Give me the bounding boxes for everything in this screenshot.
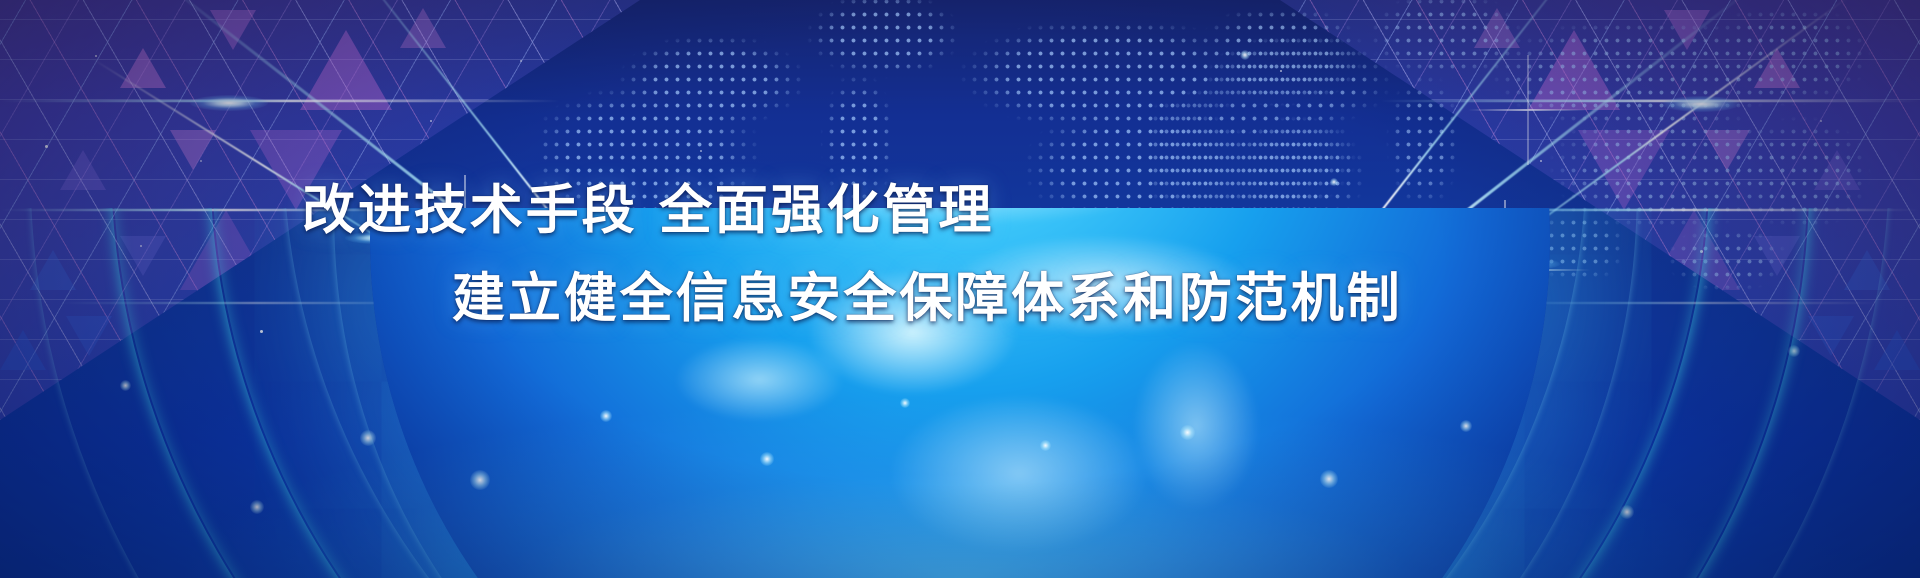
headline-line-2: 建立健全信息安全保障体系和防范机制 — [452, 256, 1403, 332]
mesh-triangle — [400, 8, 446, 48]
mesh-triangle — [210, 10, 256, 50]
tech-banner: 改进技术手段 全面强化管理 建立健全信息安全保障体系和防范机制 — [0, 0, 1920, 578]
mesh-triangle — [300, 30, 392, 110]
mesh-triangle — [60, 150, 106, 190]
mesh-triangle — [170, 130, 216, 170]
mesh-triangle — [120, 48, 166, 88]
headline-line-1: 改进技术手段 全面强化管理 — [302, 168, 994, 244]
